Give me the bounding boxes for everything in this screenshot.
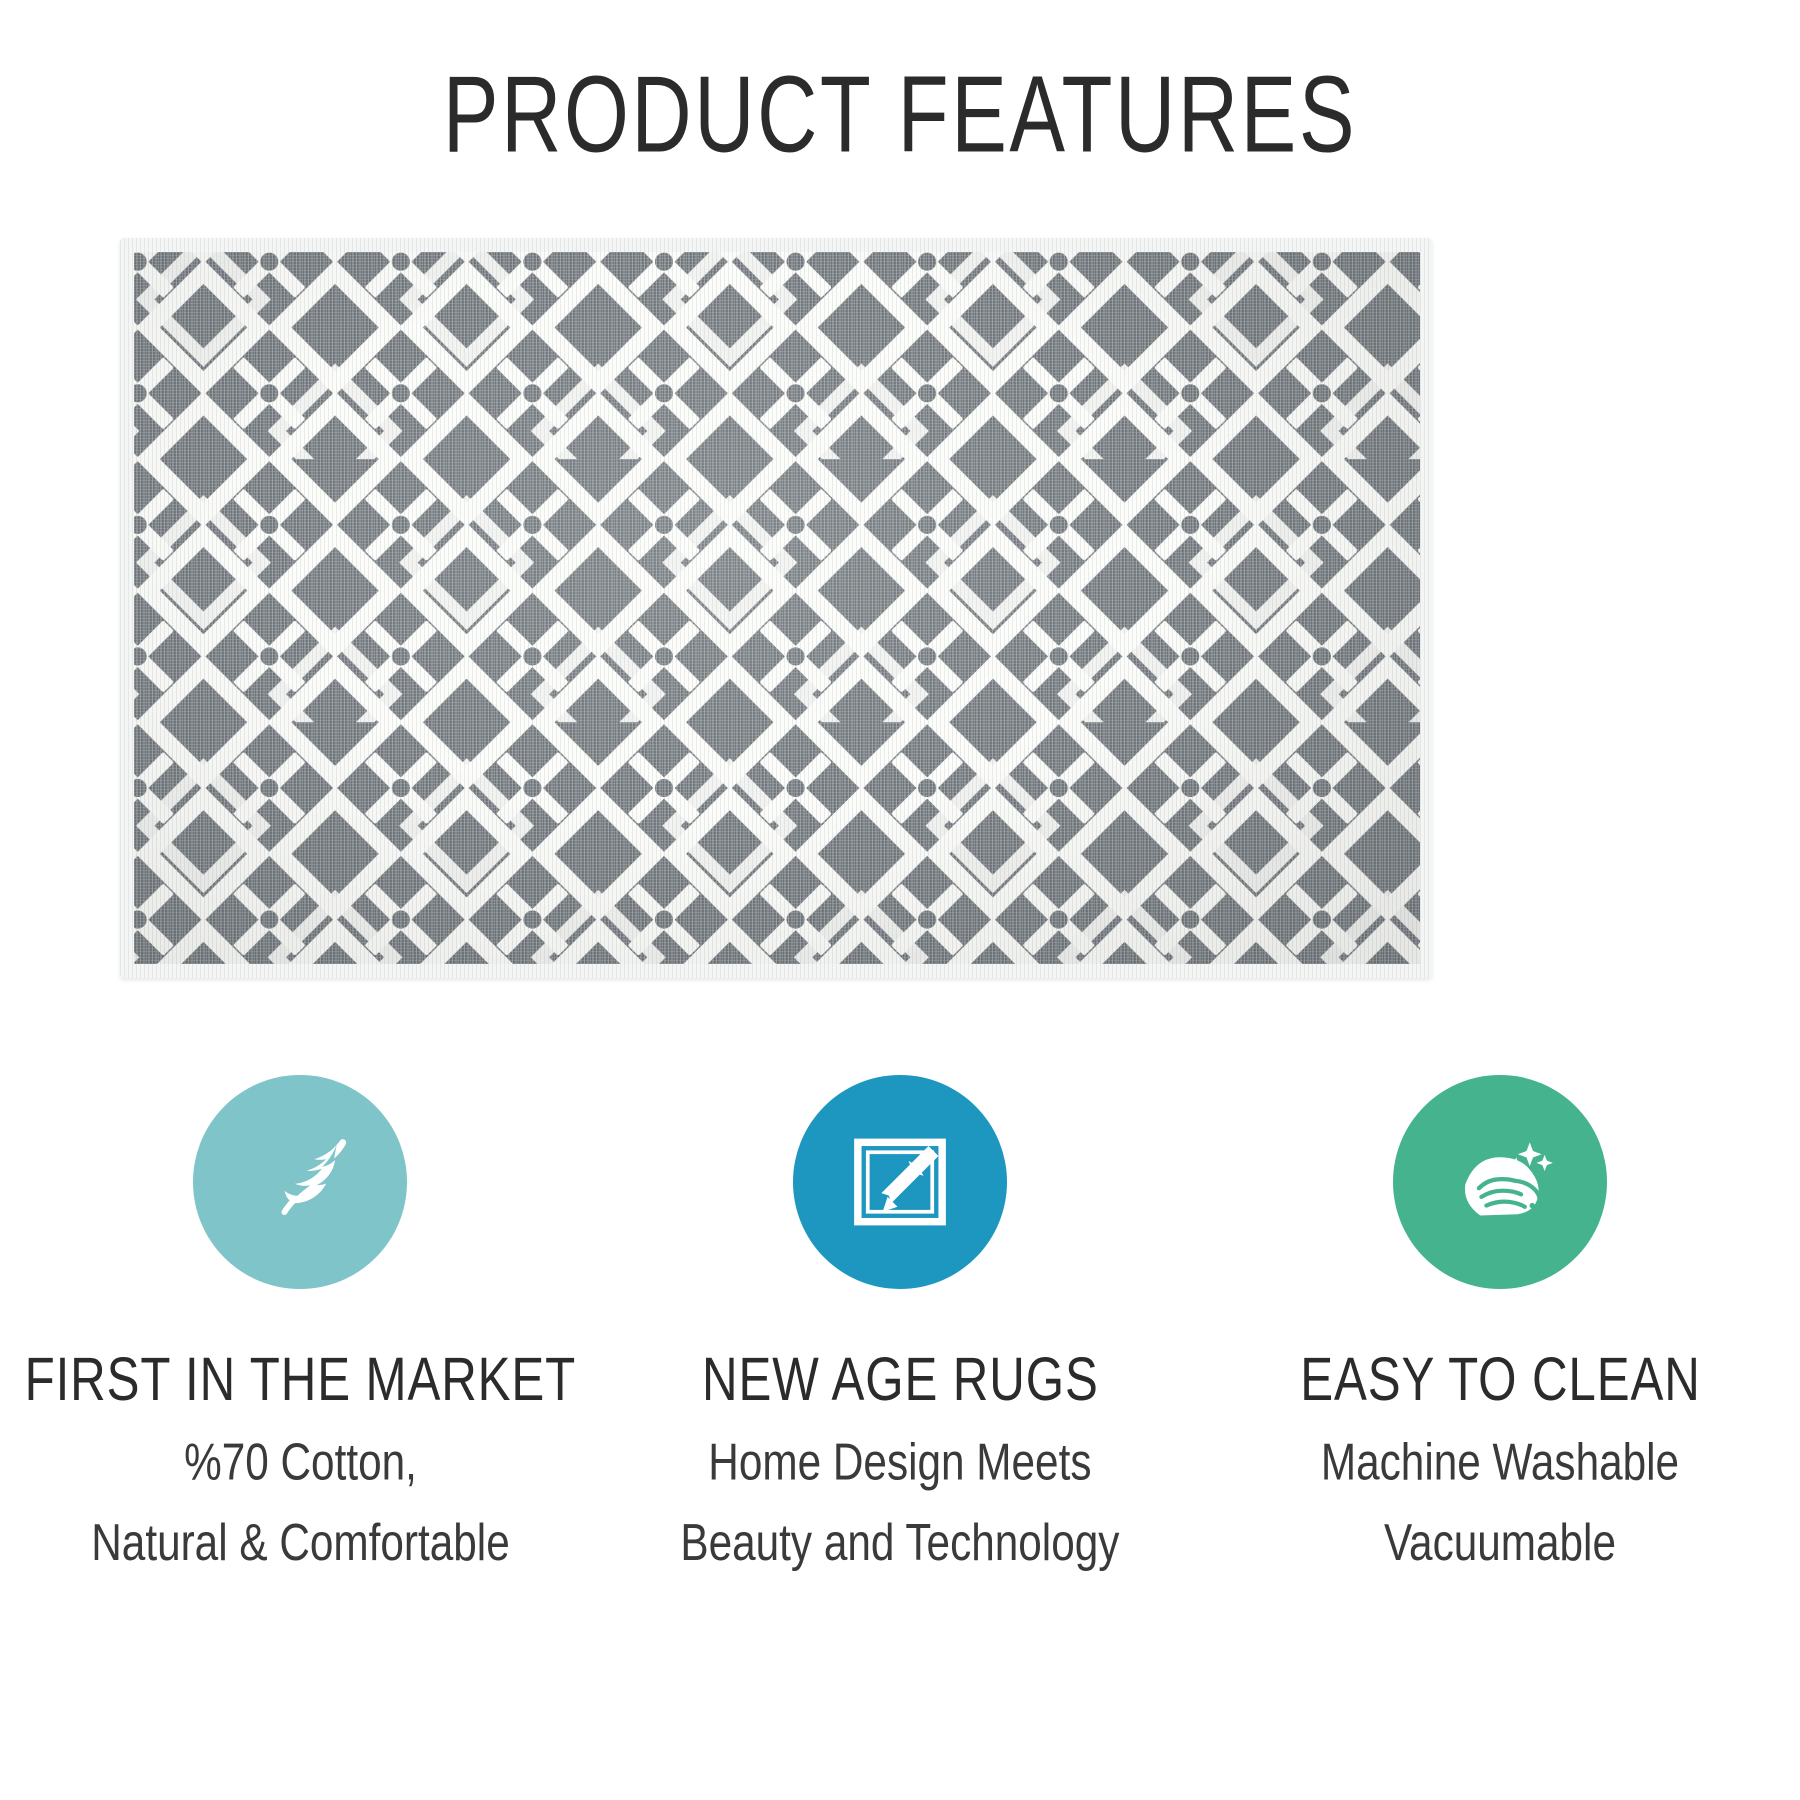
- feature-description-1: %70 Cotton, Natural & Comfortable: [91, 1426, 509, 1586]
- feature-line-3b: Vacuumable: [1321, 1506, 1679, 1579]
- feature-heading-1: FIRST IN THE MARKET: [24, 1348, 576, 1410]
- hand-wipe-sparkle-icon: [1438, 1120, 1562, 1244]
- feature-heading-3: EASY TO CLEAN: [1300, 1348, 1700, 1410]
- feature-line-3a: Machine Washable: [1321, 1426, 1679, 1499]
- feature-icon-badge-3: [1393, 1075, 1607, 1289]
- feature-line-2b: Beauty and Technology: [680, 1506, 1119, 1579]
- rug-pattern: [134, 252, 1420, 964]
- product-features-page: PRODUCT FEATURES: [0, 0, 1800, 1800]
- feature-description-2: Home Design Meets Beauty and Technology: [680, 1426, 1119, 1586]
- feature-icon-badge-1: [193, 1075, 407, 1289]
- design-pen-icon: [838, 1120, 962, 1244]
- page-title: PRODUCT FEATURES: [126, 52, 1674, 177]
- feature-line-2a: Home Design Meets: [680, 1426, 1119, 1499]
- feature-item-easy-to-clean: EASY TO CLEAN Machine Washable Vacuumabl…: [1200, 1075, 1800, 1578]
- feature-icon-badge-2: [793, 1075, 1007, 1289]
- feather-icon: [238, 1120, 362, 1244]
- feature-item-first-in-the-market: FIRST IN THE MARKET %70 Cotton, Natural …: [0, 1075, 600, 1578]
- feature-item-new-age-rugs: NEW AGE RUGS Home Design Meets Beauty an…: [600, 1075, 1200, 1578]
- feature-list: FIRST IN THE MARKET %70 Cotton, Natural …: [0, 1075, 1800, 1578]
- feature-heading-2: NEW AGE RUGS: [702, 1348, 1099, 1410]
- rug-photo: [120, 238, 1432, 978]
- product-image-container: [120, 238, 1432, 978]
- rug-field: [134, 252, 1420, 964]
- feature-line-1a: %70 Cotton,: [91, 1426, 509, 1499]
- feature-line-1b: Natural & Comfortable: [91, 1506, 509, 1579]
- feature-description-3: Machine Washable Vacuumable: [1321, 1426, 1679, 1586]
